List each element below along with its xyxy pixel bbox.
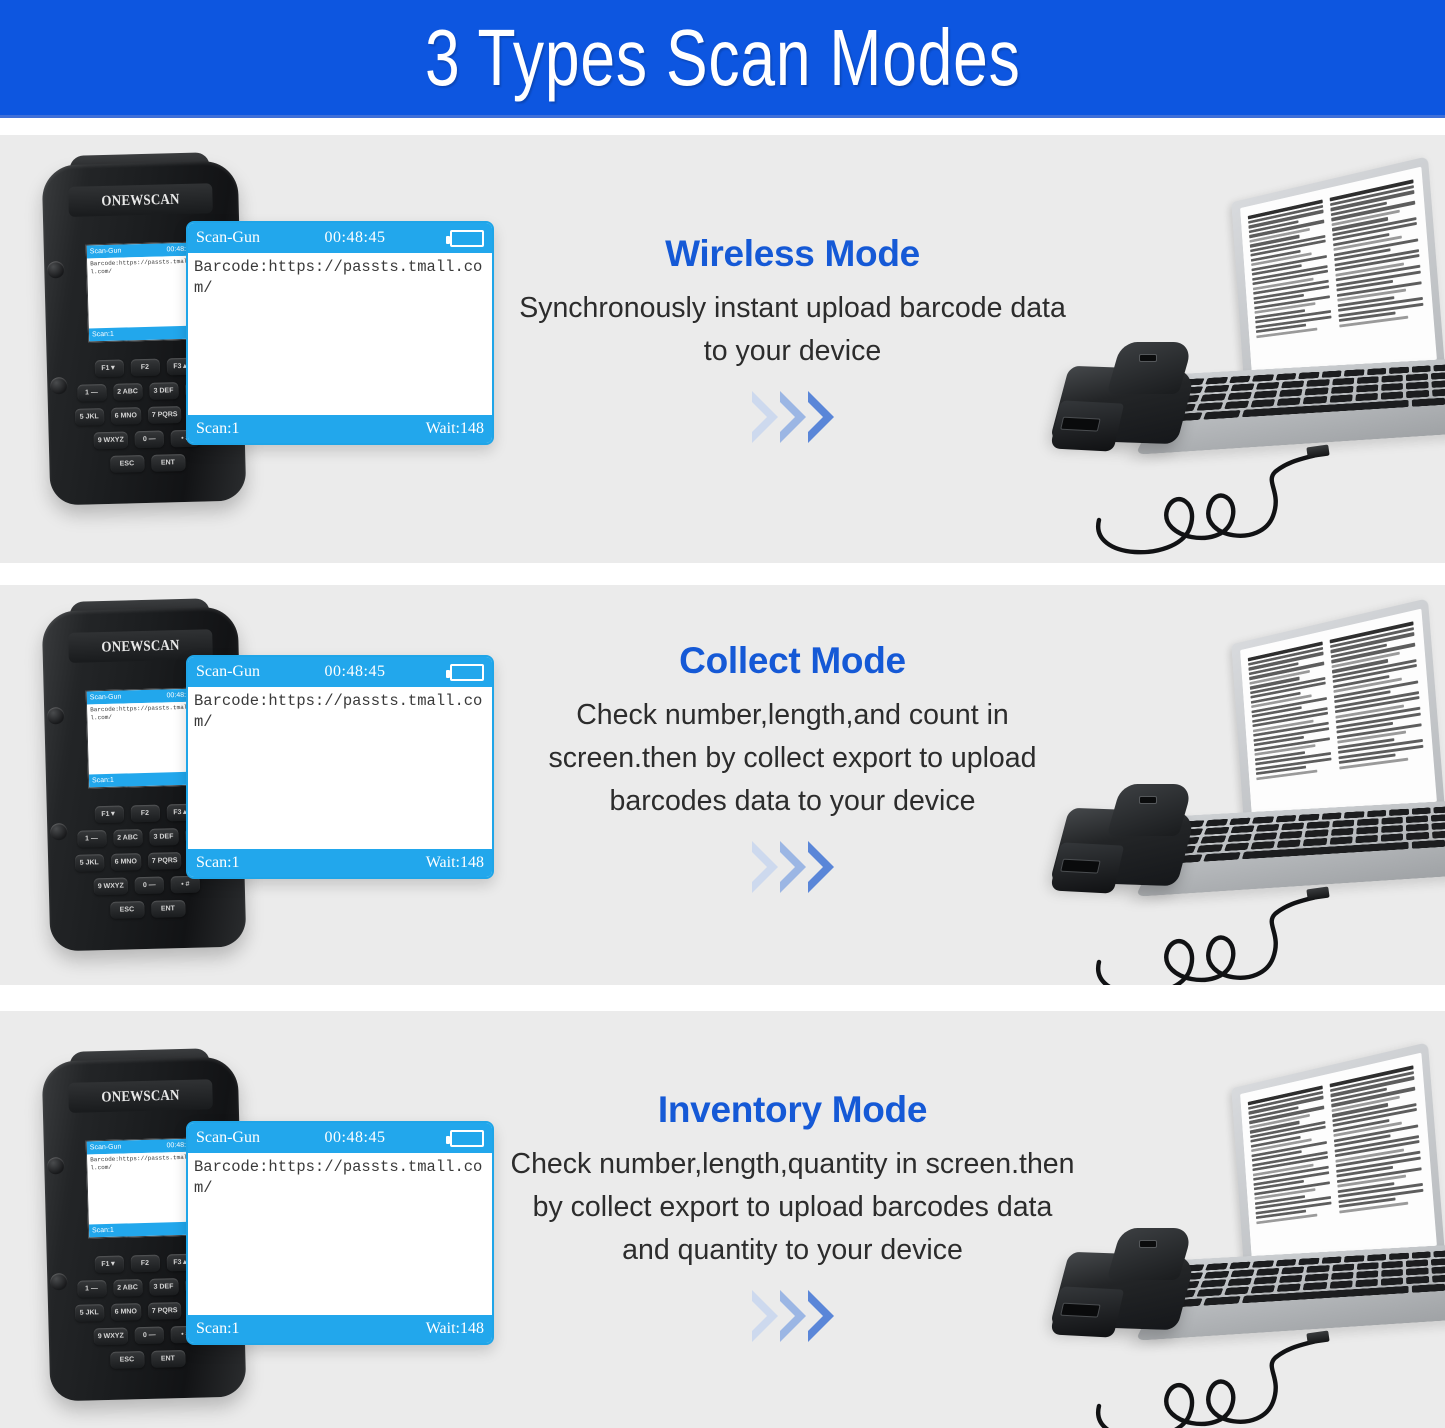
- keyboard-key: [1303, 1282, 1327, 1290]
- key-6mno[interactable]: 6 MNO: [111, 1303, 142, 1321]
- key-ent[interactable]: ENT: [151, 454, 185, 472]
- mode-title-collect: Collect Mode: [505, 640, 1080, 682]
- keyboard-key: [1412, 840, 1445, 849]
- keyboard-key: [1406, 390, 1428, 398]
- keyboard-key: [1276, 373, 1297, 380]
- keyboard-key: [1252, 816, 1274, 823]
- keyboard-key: [1406, 815, 1428, 823]
- keyboard-key: [1305, 829, 1328, 837]
- keypad-row: ESCENT: [69, 1349, 225, 1370]
- keyboard-key: [1200, 393, 1225, 401]
- key-5jkl[interactable]: 5 JKL: [75, 408, 104, 426]
- keyboard-key: [1431, 1266, 1445, 1274]
- keyboard-key: [1430, 1258, 1445, 1266]
- keyboard-key: [1306, 379, 1329, 387]
- keyboard-key: [1250, 399, 1275, 407]
- keyboard-key: [1252, 1260, 1274, 1267]
- keyboard-key: [1250, 841, 1275, 849]
- popup-header: Scan-Gun00:48:45: [188, 223, 492, 253]
- keyboard-key: [1276, 1259, 1297, 1266]
- mode-panel-inventory: ONEWSCANScan-Gun00:48:45Barcode:https://…: [0, 1011, 1445, 1428]
- key-0[interactable]: 0 —: [135, 1327, 164, 1345]
- keyboard-key: [1253, 832, 1277, 840]
- keyboard-key: [1381, 391, 1403, 399]
- cradle-neck: [1107, 342, 1194, 394]
- keyboard-key: [1206, 377, 1229, 385]
- popup-footer: Scan:1Wait:148: [188, 849, 492, 877]
- spreadsheet-column: [1329, 179, 1427, 359]
- popup-title: Scan-Gun: [196, 229, 260, 247]
- keyboard-key: [1253, 390, 1277, 398]
- keyboard-key: [1281, 1267, 1304, 1275]
- popup-scan-count: Scan:1: [196, 854, 240, 872]
- spreadsheet-column: [1248, 1086, 1334, 1254]
- device-lcd-screen: Scan-Gun00:48:45Barcode:https://passts.t…: [86, 1138, 201, 1239]
- keyboard-key: [1224, 843, 1249, 852]
- keyboard-key: [1321, 812, 1341, 819]
- keyboard-key: [1430, 814, 1445, 822]
- device-lcd-title: Scan-Gun: [90, 245, 122, 259]
- device-lcd-scan-count: Scan:1: [92, 328, 114, 342]
- key-9wxyz[interactable]: 9 WXYZ: [94, 1327, 128, 1345]
- keyboard-key: [1355, 1279, 1378, 1287]
- keyboard-key: [1256, 1268, 1280, 1276]
- keyboard-key: [1356, 384, 1378, 392]
- keyboard-key: [1357, 818, 1379, 826]
- keyboard-key: [1382, 375, 1404, 383]
- scanner-illustration: ONEWSCANScan-Gun00:48:45Barcode:https://…: [0, 135, 520, 563]
- keyboard-key: [1344, 369, 1364, 376]
- popup-wait-count: Wait:148: [426, 1320, 484, 1338]
- key-esc[interactable]: ESC: [110, 901, 144, 919]
- keyboard-key: [1305, 387, 1328, 395]
- device-lcd-scan-count: Scan:1: [92, 774, 114, 788]
- key-6mno[interactable]: 6 MNO: [111, 407, 142, 425]
- brand-logo-text: ONEWSCAN: [101, 636, 180, 656]
- keyboard-key: [1250, 1285, 1275, 1293]
- keyboard-key: [1431, 822, 1445, 830]
- scanner-illustration: ONEWSCANScan-Gun00:48:45Barcode:https://…: [0, 1011, 520, 1428]
- keyboard-key: [1432, 388, 1445, 396]
- keyboard-key: [1279, 1275, 1303, 1283]
- keyboard-key: [1389, 1253, 1408, 1260]
- keyboard-key: [1229, 376, 1251, 384]
- device-lcd-scan-count: Scan:1: [92, 1224, 114, 1238]
- keyboard-key: [1299, 814, 1320, 821]
- keyboard-key: [1412, 365, 1431, 372]
- spreadsheet-column: [1329, 1065, 1427, 1245]
- popup-footer: Scan:1Wait:148: [188, 1315, 492, 1343]
- mode-title-inventory: Inventory Mode: [505, 1089, 1080, 1131]
- key-f1[interactable]: F1▼: [94, 1256, 123, 1274]
- chevron-arrows-icon: [505, 391, 1080, 443]
- device-lcd-footer: Scan:1: [89, 326, 199, 342]
- chevron-right-icon: [780, 1290, 806, 1342]
- keyboard-key: [1329, 1280, 1352, 1288]
- keyboard-key: [1204, 827, 1229, 835]
- device-lcd-footer: Scan:1: [89, 1222, 199, 1238]
- laptop-screen-spreadsheet: [1240, 1053, 1437, 1265]
- keyboard-key: [1306, 821, 1329, 829]
- key-f2[interactable]: F2: [130, 1255, 159, 1273]
- popup-wait-count: Wait:148: [426, 420, 484, 438]
- keyboard-key: [1330, 828, 1353, 836]
- keyboard-key: [1306, 1265, 1329, 1273]
- key-ent[interactable]: ENT: [151, 1350, 185, 1368]
- key-esc[interactable]: ESC: [110, 1351, 144, 1369]
- laptop-lid: [1231, 1042, 1445, 1273]
- spreadsheet-column: [1329, 621, 1427, 801]
- keyboard-key: [1200, 1279, 1225, 1287]
- keyboard-key: [1332, 820, 1354, 828]
- keyboard-key: [1412, 1284, 1445, 1293]
- keyboard-key: [1406, 824, 1428, 832]
- scan-result-popup: Scan-Gun00:48:45Barcode:https://passts.t…: [186, 1121, 494, 1345]
- device-connection-illustration: [1045, 585, 1445, 985]
- keyboard-key: [1406, 1259, 1428, 1267]
- chevron-right-icon: [808, 1290, 834, 1342]
- popup-title: Scan-Gun: [196, 1129, 260, 1147]
- device-lcd-barcode-text: Barcode:https://passts.tmall.com/: [87, 256, 199, 329]
- keyboard-key: [1355, 835, 1378, 843]
- keyboard-key: [1277, 1284, 1301, 1292]
- keyboard-key: [1230, 383, 1254, 391]
- header-banner: 3 Types Scan Modes: [0, 0, 1445, 118]
- key-7pqrs[interactable]: 7 PQRS: [148, 1302, 182, 1320]
- scan-result-popup: Scan-Gun00:48:45Barcode:https://passts.t…: [186, 655, 494, 879]
- keyboard-key: [1321, 1256, 1341, 1263]
- keypad-row: ESCENT: [69, 453, 225, 474]
- keyboard-key: [1412, 1251, 1431, 1258]
- keyboard-key: [1381, 1269, 1403, 1277]
- keyboard-key: [1227, 1278, 1252, 1286]
- keyboard-key: [1389, 367, 1408, 374]
- keypad-row: ESCENT: [69, 899, 225, 920]
- keyboard-key: [1230, 1269, 1254, 1277]
- keyboard-key: [1281, 381, 1304, 389]
- keyboard-key: [1330, 386, 1353, 394]
- key-3def[interactable]: 3 DEF: [149, 382, 178, 400]
- keyboard-key: [1406, 373, 1428, 381]
- device-lcd-title: Scan-Gun: [90, 691, 122, 705]
- mode-panel-collect: ONEWSCANScan-Gun00:48:45Barcode:https://…: [0, 585, 1445, 985]
- popup-time: 00:48:45: [260, 229, 450, 247]
- keyboard-key: [1367, 810, 1387, 817]
- key-9wxyz[interactable]: 9 WXYZ: [94, 431, 128, 449]
- laptop-screen-spreadsheet: [1240, 609, 1437, 821]
- keyboard-key: [1227, 834, 1252, 842]
- keyboard-key: [1206, 1263, 1229, 1271]
- popup-header: Scan-Gun00:48:45: [188, 657, 492, 687]
- keyboard-key: [1252, 374, 1274, 381]
- keyboard-key: [1344, 1255, 1364, 1262]
- keyboard-key: [1330, 1272, 1353, 1280]
- device-lcd-footer: Scan:1: [89, 772, 199, 788]
- popup-barcode-text: Barcode:https://passts.tmall.com/: [188, 253, 492, 415]
- key-f2[interactable]: F2: [130, 805, 159, 823]
- keyboard-key: [1299, 1258, 1320, 1265]
- key-3def[interactable]: 3 DEF: [149, 828, 178, 846]
- keyboard-key: [1406, 1268, 1428, 1276]
- popup-footer: Scan:1Wait:148: [188, 415, 492, 443]
- key-2abc[interactable]: 2 ABC: [113, 1279, 142, 1297]
- chevron-right-icon: [808, 841, 834, 893]
- keyboard-key: [1389, 809, 1408, 816]
- key-2abc[interactable]: 2 ABC: [113, 829, 142, 847]
- keyboard-key: [1204, 385, 1229, 393]
- keyboard-key: [1305, 1273, 1328, 1281]
- key-1[interactable]: 1 —: [77, 384, 106, 402]
- infographic-page: 3 Types Scan Modes ONEWSCANScan-Gun00:48…: [0, 0, 1445, 1428]
- key-5jkl[interactable]: 5 JKL: [75, 854, 104, 872]
- popup-barcode-text: Barcode:https://passts.tmall.com/: [188, 687, 492, 849]
- spreadsheet-column: [1248, 642, 1334, 810]
- mode-text-block-collect: Collect ModeCheck number,length,and coun…: [505, 640, 1080, 893]
- keyboard-key: [1230, 825, 1254, 833]
- device-lcd-barcode-text: Barcode:https://passts.tmall.com/: [87, 702, 199, 775]
- popup-barcode-text: Barcode:https://passts.tmall.com/: [188, 1153, 492, 1315]
- keyboard-key: [1430, 372, 1445, 380]
- keyboard-key: [1279, 389, 1303, 397]
- keyboard-key: [1229, 818, 1251, 826]
- keyboard-key: [1256, 382, 1280, 390]
- device-lcd-title: Scan-Gun: [90, 1141, 122, 1155]
- device-lcd-screen: Scan-Gun00:48:45Barcode:https://passts.t…: [86, 688, 201, 789]
- keyboard-key: [1224, 1287, 1249, 1296]
- keyboard-key: [1431, 380, 1445, 388]
- scan-result-popup: Scan-Gun00:48:45Barcode:https://passts.t…: [186, 221, 494, 445]
- device-lcd-barcode-text: Barcode:https://passts.tmall.com/: [87, 1152, 199, 1225]
- battery-full-icon: [450, 664, 484, 681]
- keyboard-key: [1332, 1264, 1354, 1272]
- keyboard-key: [1277, 840, 1301, 848]
- mode-panel-wireless: ONEWSCANScan-Gun00:48:45Barcode:https://…: [0, 135, 1445, 563]
- keyboard-key: [1329, 394, 1352, 402]
- popup-time: 00:48:45: [260, 1129, 450, 1147]
- chevron-right-icon: [780, 391, 806, 443]
- keyboard-key: [1206, 819, 1229, 827]
- key-1[interactable]: 1 —: [77, 1280, 106, 1298]
- usb-cable: [1079, 852, 1379, 985]
- cradle-contact-slot: [1139, 796, 1157, 804]
- cradle-neck: [1107, 784, 1194, 836]
- keyboard-key: [1381, 833, 1403, 841]
- key-5jkl[interactable]: 5 JKL: [75, 1304, 104, 1322]
- keyboard-key: [1200, 835, 1225, 843]
- keyboard-key: [1229, 1262, 1251, 1270]
- device-lcd-screen: Scan-Gun00:48:45Barcode:https://passts.t…: [86, 242, 201, 343]
- popup-header: Scan-Gun00:48:45: [188, 1123, 492, 1153]
- mode-text-block-wireless: Wireless ModeSynchronously instant uploa…: [505, 233, 1080, 443]
- chevron-arrows-icon: [505, 841, 1080, 893]
- keyboard-key: [1204, 1271, 1229, 1279]
- brand-logo-text: ONEWSCAN: [101, 1086, 180, 1106]
- battery-full-icon: [450, 1130, 484, 1147]
- laptop-screen-spreadsheet: [1240, 167, 1437, 379]
- keyboard-key: [1367, 368, 1387, 375]
- key-esc[interactable]: ESC: [110, 455, 144, 473]
- laptop-lid: [1231, 598, 1445, 829]
- keyboard-key: [1382, 817, 1404, 825]
- keyboard-key: [1406, 382, 1428, 390]
- keyboard-key: [1406, 832, 1428, 840]
- cradle-contact-slot: [1139, 1240, 1157, 1248]
- usb-cable: [1079, 410, 1379, 563]
- keyboard-key: [1344, 811, 1364, 818]
- popup-scan-count: Scan:1: [196, 1320, 240, 1338]
- keyboard-key: [1277, 398, 1301, 406]
- key-6mno[interactable]: 6 MNO: [111, 853, 142, 871]
- keyboard-key: [1356, 826, 1378, 834]
- keyboard-key: [1256, 824, 1280, 832]
- laptop-lid: [1231, 156, 1445, 387]
- device-connection-illustration: [1045, 135, 1445, 563]
- key-7pqrs[interactable]: 7 PQRS: [148, 406, 182, 424]
- keyboard-key: [1381, 383, 1403, 391]
- cradle-contact-slot: [1139, 354, 1157, 362]
- keyboard-key: [1355, 393, 1378, 401]
- keyboard-key: [1279, 831, 1303, 839]
- mode-description-inventory: Check number,length,quantity in screen.t…: [505, 1143, 1080, 1272]
- keyboard-key: [1382, 1261, 1404, 1269]
- key-f1[interactable]: F1▼: [94, 360, 123, 378]
- chevron-right-icon: [752, 841, 778, 893]
- key-3def[interactable]: 3 DEF: [149, 1278, 178, 1296]
- chevron-right-icon: [752, 1290, 778, 1342]
- mode-description-collect: Check number,length,and count in screen.…: [505, 694, 1080, 823]
- key-2abc[interactable]: 2 ABC: [113, 383, 142, 401]
- keyboard-key: [1224, 401, 1249, 410]
- keyboard-key: [1381, 1277, 1403, 1285]
- key-1[interactable]: 1 —: [77, 830, 106, 848]
- scanner-illustration: ONEWSCANScan-Gun00:48:45Barcode:https://…: [0, 585, 520, 985]
- keyboard-key: [1253, 1276, 1277, 1284]
- keyboard-key: [1321, 370, 1341, 377]
- usb-cable: [1079, 1296, 1379, 1428]
- keyboard-key: [1281, 823, 1304, 831]
- keyboard-key: [1356, 1270, 1378, 1278]
- key-ent[interactable]: ENT: [151, 900, 185, 918]
- battery-full-icon: [450, 230, 484, 247]
- chevron-right-icon: [808, 391, 834, 443]
- keyboard-key: [1357, 1262, 1379, 1270]
- keyboard-key: [1303, 396, 1327, 404]
- mode-text-block-inventory: Inventory ModeCheck number,length,quanti…: [505, 1089, 1080, 1342]
- keyboard-key: [1303, 838, 1327, 846]
- mode-title-wireless: Wireless Mode: [505, 233, 1080, 275]
- chevron-arrows-icon: [505, 1290, 1080, 1342]
- popup-title: Scan-Gun: [196, 663, 260, 681]
- keyboard-key: [1432, 830, 1445, 838]
- brand-logo-text: ONEWSCAN: [101, 190, 180, 210]
- spreadsheet-column: [1248, 200, 1334, 368]
- keyboard-key: [1227, 392, 1252, 400]
- page-title: 3 Types Scan Modes: [425, 18, 1021, 98]
- popup-scan-count: Scan:1: [196, 420, 240, 438]
- mode-description-wireless: Synchronously instant upload barcode dat…: [505, 287, 1080, 373]
- brand-plate: ONEWSCAN: [68, 183, 213, 217]
- keyboard-key: [1357, 376, 1379, 384]
- keyboard-key: [1412, 398, 1445, 407]
- keyboard-key: [1434, 364, 1445, 371]
- key-0[interactable]: 0 —: [135, 877, 164, 895]
- chevron-right-icon: [780, 841, 806, 893]
- chevron-right-icon: [752, 391, 778, 443]
- key-f1[interactable]: F1▼: [94, 806, 123, 824]
- keyboard-key: [1276, 815, 1297, 822]
- keyboard-key: [1406, 1276, 1428, 1284]
- brand-plate: ONEWSCAN: [68, 1079, 213, 1113]
- key-0[interactable]: 0 —: [135, 431, 164, 449]
- keyboard-key: [1381, 825, 1403, 833]
- key-7pqrs[interactable]: 7 PQRS: [148, 852, 182, 870]
- keyboard-key: [1367, 1254, 1387, 1261]
- key-f2[interactable]: F2: [130, 359, 159, 377]
- key-9wxyz[interactable]: 9 WXYZ: [94, 877, 128, 895]
- popup-wait-count: Wait:148: [426, 854, 484, 872]
- keyboard-key: [1332, 378, 1354, 386]
- keyboard-key: [1299, 372, 1320, 379]
- keyboard-key: [1432, 1274, 1445, 1282]
- popup-time: 00:48:45: [260, 663, 450, 681]
- cradle-neck: [1107, 1228, 1194, 1280]
- keyboard-key: [1329, 836, 1352, 844]
- device-connection-illustration: [1045, 1011, 1445, 1428]
